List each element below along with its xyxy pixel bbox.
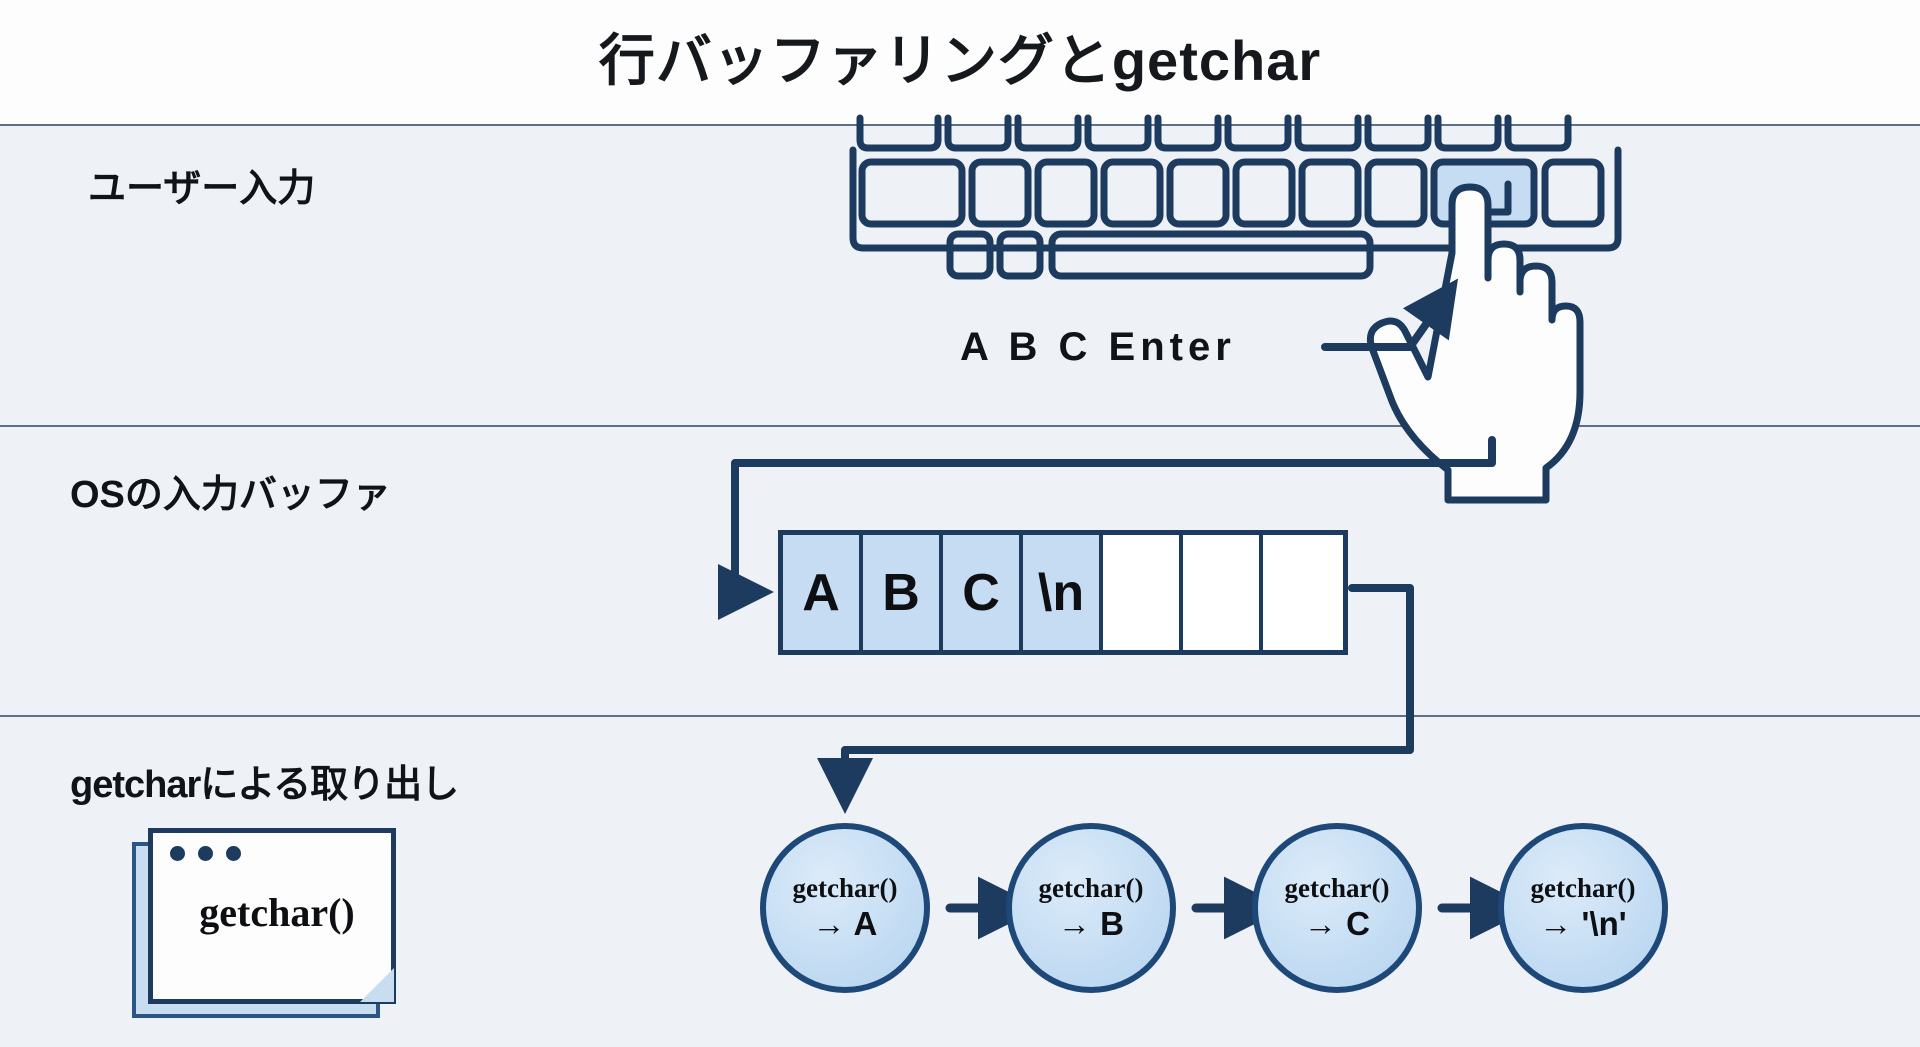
section-label-user-input: ユーザー入力	[88, 157, 315, 212]
buffer-cell: A	[783, 535, 863, 650]
window-dots-icon	[170, 846, 241, 861]
page-fold-icon	[360, 968, 394, 1002]
getchar-call-node: getchar() → B	[1006, 823, 1176, 993]
section-label-getchar: getcharによる取り出し	[70, 753, 458, 808]
node-function-label: getchar()	[1039, 873, 1144, 903]
buffer-cell	[1263, 535, 1343, 650]
node-function-label: getchar()	[1285, 873, 1390, 903]
buffer-cell: C	[943, 535, 1023, 650]
buffer-cell	[1183, 535, 1263, 650]
node-result-label: → C	[1304, 905, 1370, 943]
card-title: getchar()	[153, 889, 401, 936]
node-result-label: → A	[813, 905, 878, 943]
node-function-label: getchar()	[1531, 873, 1636, 903]
os-input-buffer: A B C \n	[778, 530, 1348, 655]
section-label-os-buffer: OSの入力バッファ	[70, 463, 391, 518]
node-result-label: → B	[1058, 905, 1124, 943]
divider-top	[0, 124, 1920, 126]
keys-pressed-caption: A B C Enter	[960, 325, 1236, 370]
page-title: 行バッファリングとgetchar	[0, 22, 1920, 100]
buffer-cell	[1103, 535, 1183, 650]
node-result-label: → '\n'	[1539, 905, 1626, 943]
getchar-call-node: getchar() → C	[1252, 823, 1422, 993]
node-function-label: getchar()	[793, 873, 898, 903]
divider-bottom	[0, 715, 1920, 717]
getchar-window-card: getchar()	[148, 828, 396, 1008]
diagram-canvas: 行バッファリングとgetchar ユーザー入力 OSの入力バッファ getcha…	[0, 0, 1920, 1047]
buffer-cell: B	[863, 535, 943, 650]
getchar-call-node: getchar() → A	[760, 823, 930, 993]
getchar-call-node: getchar() → '\n'	[1498, 823, 1668, 993]
divider-middle	[0, 425, 1920, 427]
card-body: getchar()	[148, 828, 396, 1004]
buffer-cell: \n	[1023, 535, 1103, 650]
